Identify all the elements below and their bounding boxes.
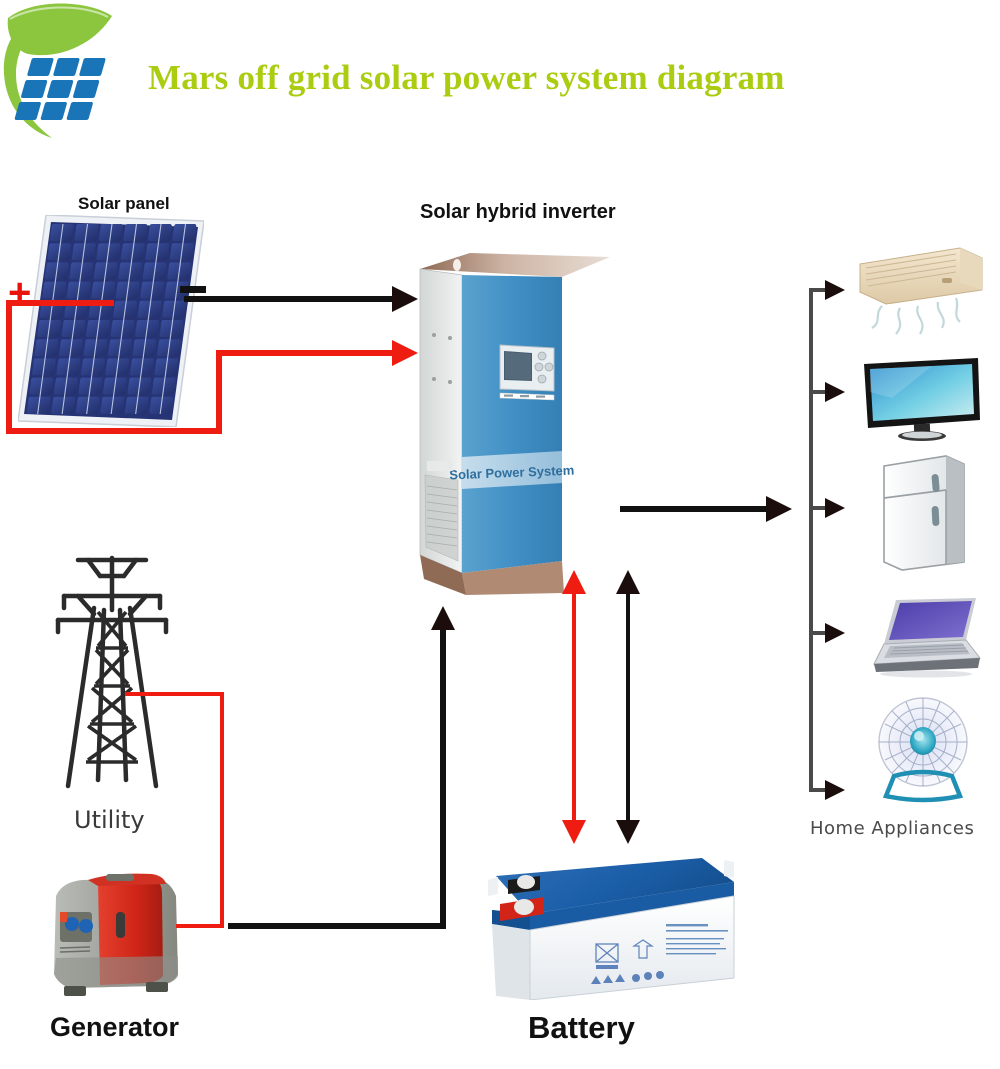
battery-bank — [478, 852, 738, 1000]
wire-panel-positive-down — [6, 302, 12, 434]
arrowhead-inverter-to-appliance-bus — [766, 496, 792, 522]
arrowhead-inverter-to-battery-black — [616, 820, 640, 844]
solar-panel-label: Solar panel — [78, 194, 170, 214]
refrigerator-icon — [876, 452, 972, 572]
arrowhead-to-laptop — [825, 623, 845, 643]
wire-inverter-battery-red — [572, 585, 576, 835]
wire-panel-positive-bottom — [6, 428, 222, 434]
generator-label: Generator — [50, 1012, 179, 1043]
wire-utility-out — [125, 692, 224, 696]
air-conditioner-icon — [856, 246, 986, 346]
wire-inverter-to-appliance-bus — [620, 506, 784, 512]
backup-generator — [42, 872, 202, 1004]
wire-panel-negative — [184, 296, 408, 302]
battery-label: Battery — [528, 1010, 635, 1046]
wire-panel-positive-up — [216, 352, 222, 434]
wire-inverter-battery-black — [626, 585, 630, 835]
wire-utility-down — [220, 692, 224, 928]
diagram-canvas: Mars off grid solar power system diagram… — [0, 0, 1000, 1069]
arrowhead-panel-negative-to-inverter — [392, 286, 418, 312]
wire-panel-positive-terminal-stub — [6, 300, 114, 306]
electric-fan-icon — [868, 694, 978, 806]
laptop-icon — [862, 596, 984, 678]
wire-utility-to-generator — [176, 924, 224, 928]
arrowhead-battery-to-inverter-red — [562, 570, 586, 594]
panel-negative-terminal-label — [180, 286, 206, 293]
header: Mars off grid solar power system diagram — [0, 0, 1000, 150]
arrowhead-to-television — [825, 382, 845, 402]
solar-panel-module — [18, 215, 204, 427]
appliance-bus-trunk — [809, 288, 813, 790]
utility-label: Utility — [74, 806, 145, 834]
solar-hybrid-inverter: Solar Power System — [412, 243, 612, 595]
arrowhead-battery-to-inverter-black — [616, 570, 640, 594]
home-appliances-label: Home Appliances — [810, 818, 974, 839]
page-title: Mars off grid solar power system diagram — [148, 58, 968, 98]
leaf-solar-panel-logo — [0, 2, 150, 142]
arrowhead-to-air-conditioner — [825, 280, 845, 300]
inverter-label: Solar hybrid inverter — [420, 201, 616, 224]
arrowhead-panel-positive-to-inverter — [392, 340, 418, 366]
arrowhead-inverter-to-battery-red — [562, 820, 586, 844]
wire-panel-positive-to-inverter — [216, 350, 410, 356]
arrowhead-to-refrigerator — [825, 498, 845, 518]
arrowhead-generator-to-inverter — [431, 606, 455, 630]
wire-generator-to-inverter-horizontal — [228, 923, 446, 929]
arrowhead-to-electric-fan — [825, 780, 845, 800]
utility-transmission-tower — [42, 550, 182, 800]
wire-generator-to-inverter-vertical — [440, 630, 446, 923]
television-icon — [862, 358, 984, 444]
